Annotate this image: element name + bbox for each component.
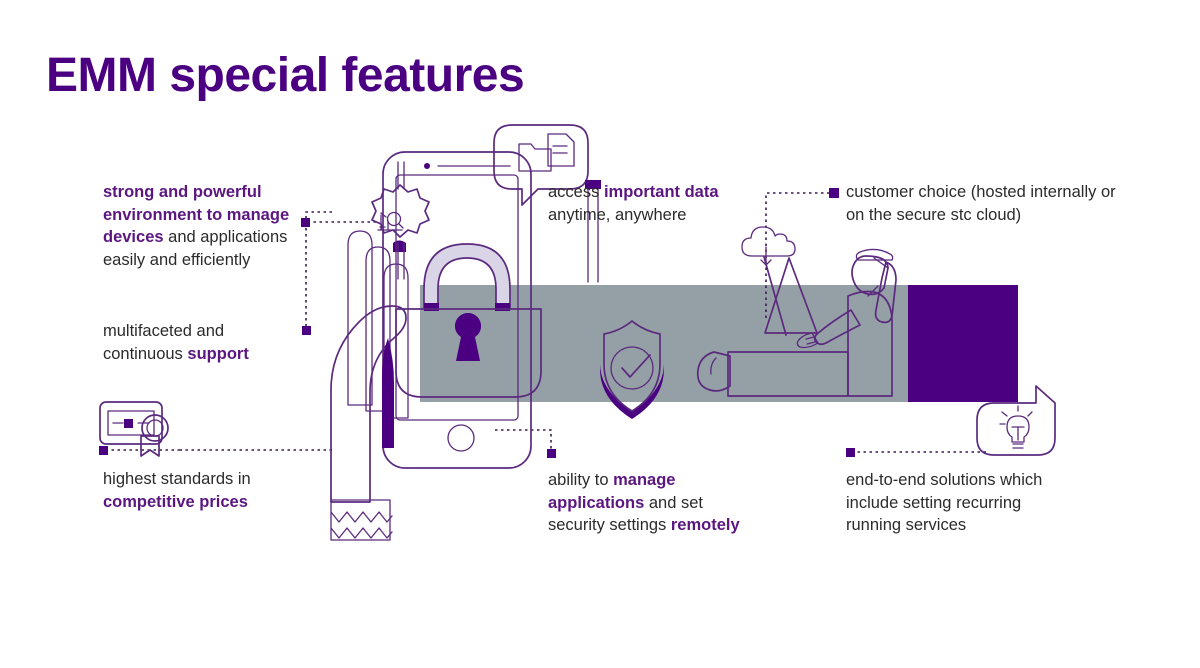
cloud-download-icon	[742, 227, 795, 265]
callout-access-data: access important data anytime, anywhere	[548, 181, 728, 226]
connector-device-to-multifaceted	[302, 212, 332, 335]
callout-highest-standards: highest standards in competitive prices	[103, 468, 313, 513]
connector-device-to-certificate	[99, 446, 332, 455]
hand-illustration	[331, 231, 408, 540]
connector-device-to-ability	[495, 430, 556, 458]
infographic-canvas: EMM special features	[0, 0, 1200, 668]
callout-highest-standards-seg-1: competitive prices	[103, 493, 248, 511]
gray-band	[420, 285, 915, 402]
connector-bulb-to-endtoend	[846, 448, 986, 457]
callout-multifaceted-support-seg-1: support	[187, 345, 248, 363]
gear-analytics-icon	[372, 162, 429, 279]
callout-strong-environment: strong and powerful environment to manag…	[103, 181, 303, 271]
certificate-award-icon	[100, 402, 168, 456]
page-title: EMM special features	[46, 48, 524, 103]
callout-manage-applications-seg-0: ability to	[548, 471, 613, 489]
tablet-device-icon	[383, 152, 531, 468]
callout-customer-choice: customer choice (hosted internally or on…	[846, 181, 1136, 226]
connector-gear-to-strong	[301, 218, 382, 227]
lightbulb-bubble-icon	[977, 386, 1055, 455]
callout-multifaceted-support: multifaceted and continuous support	[103, 320, 303, 365]
callout-end-to-end-seg-0: end-to-end solutions which include setti…	[846, 471, 1042, 534]
person-laptop-illustration	[698, 249, 896, 396]
callout-highest-standards-seg-0: highest standards in	[103, 470, 251, 488]
callout-access-data-seg-0: access	[548, 183, 604, 201]
connector-cloud-to-customer	[766, 188, 839, 318]
padlock-icon	[396, 244, 541, 397]
callout-end-to-end: end-to-end solutions which include setti…	[846, 469, 1061, 537]
callout-manage-applications-seg-3: remotely	[671, 516, 740, 534]
callout-manage-applications: ability to manage applications and set s…	[548, 469, 748, 537]
purple-block	[908, 285, 1018, 402]
callout-access-data-seg-2: anytime, anywhere	[548, 206, 687, 224]
shield-check-icon	[600, 321, 664, 419]
callout-access-data-seg-1: important data	[604, 183, 719, 201]
callout-customer-choice-seg-0: customer choice (hosted internally or on…	[846, 183, 1116, 224]
